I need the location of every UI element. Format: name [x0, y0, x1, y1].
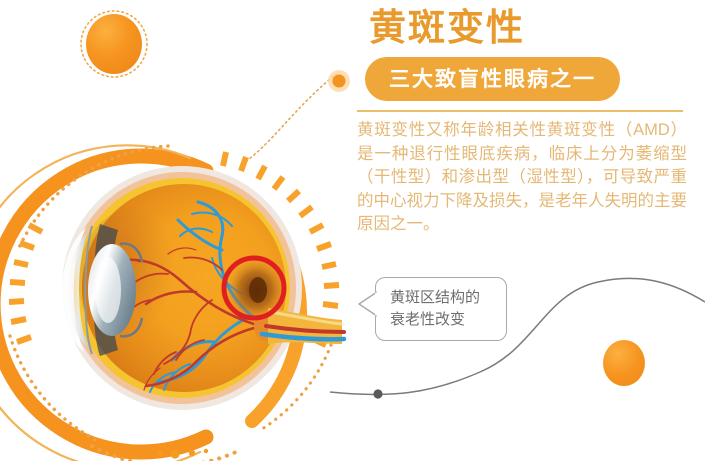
eye-diagram-svg	[0, 140, 350, 461]
decorative-circle-top-left	[80, 8, 148, 80]
infographic-poster: 黄斑变性 三大致盲性眼病之一 黄斑变性又称年龄相关性黄斑变性（AMD）是一种退行…	[0, 0, 705, 461]
s-curve-path	[330, 278, 705, 394]
body-paragraph: 黄斑变性又称年龄相关性黄斑变性（AMD）是一种退行性眼底疾病，临床上分为萎缩型（…	[357, 119, 687, 237]
s-curve-connector	[330, 268, 705, 403]
text-panel: 黄斑变性 三大致盲性眼病之一 黄斑变性又称年龄相关性黄斑变性（AMD）是一种退行…	[355, 6, 695, 237]
decorative-circle-svg	[80, 8, 148, 80]
eyeball-globe	[62, 166, 344, 410]
lens-highlight	[95, 257, 121, 323]
decorative-circle-bottom-right	[603, 340, 645, 386]
divider	[357, 110, 683, 112]
filled-circle	[86, 14, 142, 74]
s-curve-node-dot	[373, 389, 382, 398]
eye-cross-section-illustration	[0, 140, 350, 461]
anterior-segment	[62, 224, 142, 356]
page-title: 黄斑变性	[355, 6, 695, 50]
subtitle-badge: 三大致盲性眼病之一	[365, 57, 620, 101]
connector-node-dot	[327, 69, 351, 93]
fovea	[249, 277, 267, 303]
